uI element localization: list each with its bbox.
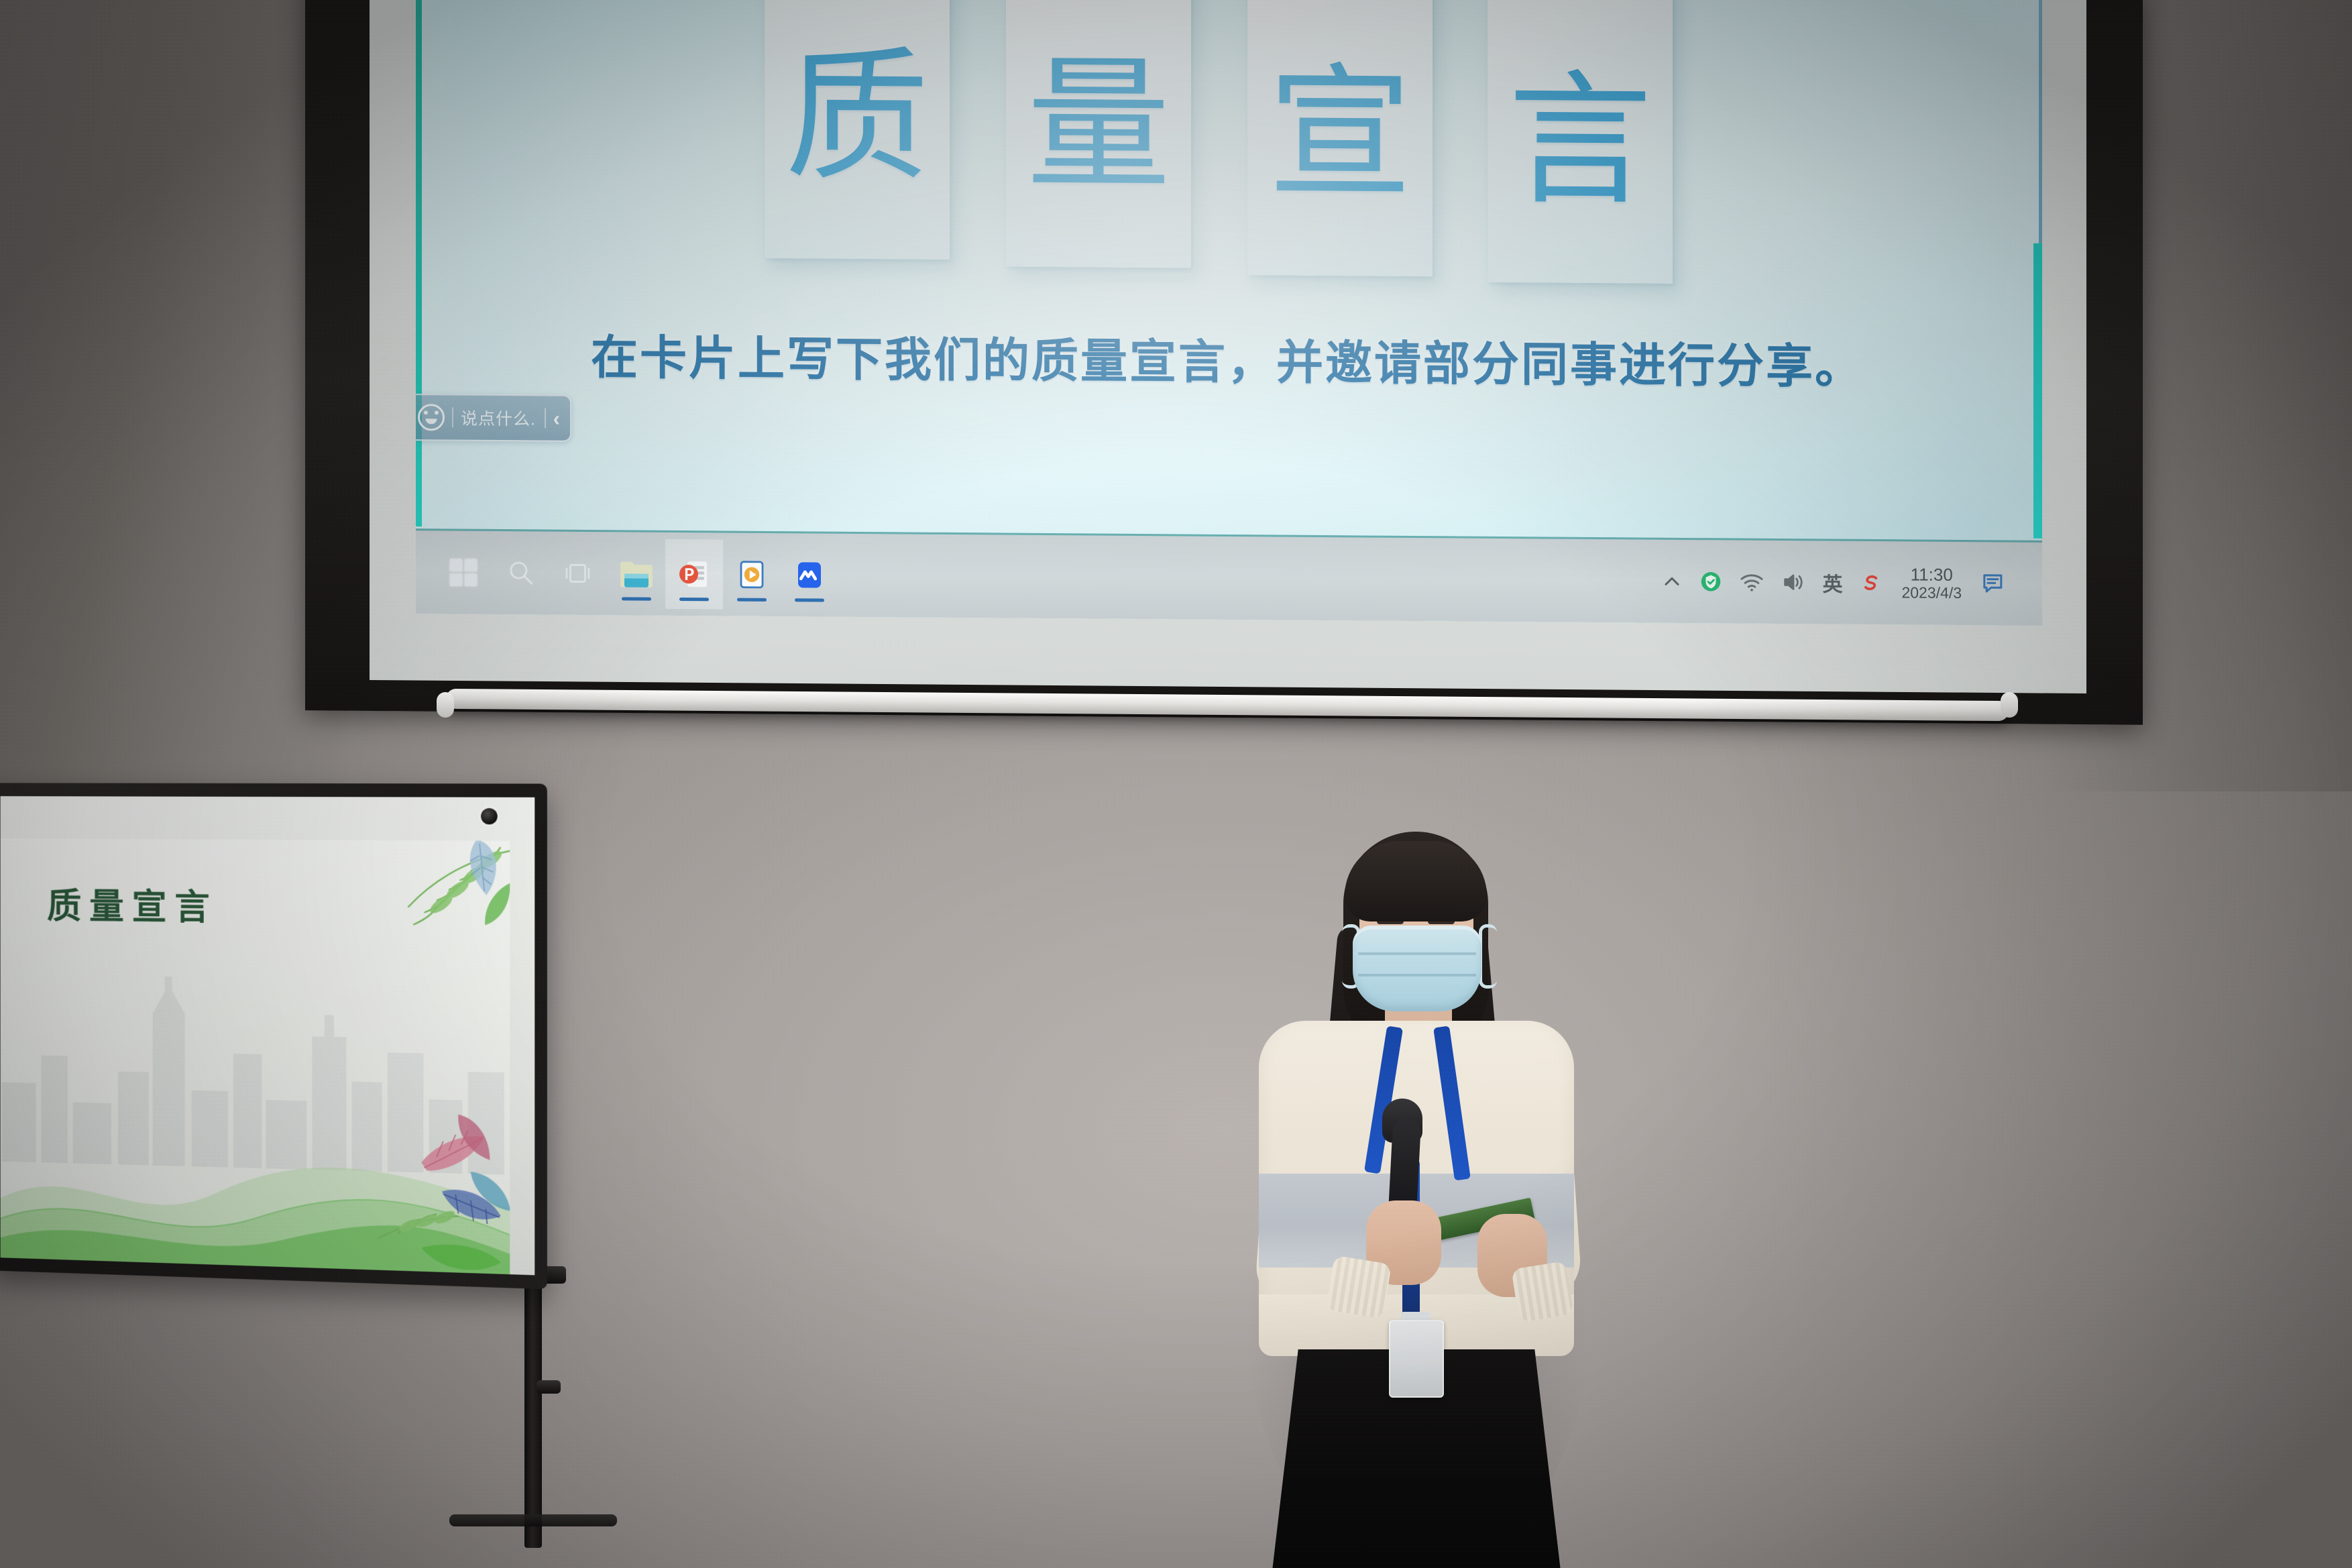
ime-indicator[interactable]: 英	[1814, 547, 1850, 617]
search-button[interactable]	[492, 538, 550, 608]
powerpoint-icon	[678, 558, 710, 590]
windows-logo-icon	[450, 559, 477, 585]
slide-accent-left	[416, 0, 422, 526]
meeting-app-button[interactable]	[781, 540, 838, 610]
presenter-id-badge	[1389, 1320, 1444, 1398]
clock-date: 2023/4/3	[1901, 584, 1962, 602]
sweater-cuff-left	[1326, 1255, 1392, 1319]
start-button[interactable]	[435, 537, 492, 608]
title-char: 宣	[1268, 60, 1412, 206]
folder-icon	[619, 558, 654, 589]
sweater-cuff-right	[1511, 1261, 1574, 1323]
media-player-icon	[736, 559, 768, 591]
quality-declaration-poster: 质量宣言	[1, 838, 510, 1275]
chevron-left-icon[interactable]: ‹	[553, 408, 560, 429]
title-char: 言	[1508, 68, 1653, 213]
title-char: 量	[1027, 52, 1171, 197]
security-shield[interactable]	[1691, 547, 1731, 616]
task-view-button[interactable]	[550, 539, 608, 609]
title-card: 宣	[1247, 0, 1433, 276]
chevron-up-icon	[1661, 571, 1683, 592]
whiteboard-frame: 质量宣言	[0, 783, 547, 1289]
taskbar-clock[interactable]: 11:30 2023/4/3	[1891, 548, 1972, 618]
search-icon	[506, 558, 536, 587]
sogou-input[interactable]	[1850, 548, 1891, 618]
show-hidden-icons[interactable]	[1653, 547, 1691, 616]
media-player-button[interactable]	[723, 539, 781, 610]
title-char: 质	[785, 44, 930, 189]
easel-knob-lower[interactable]	[537, 1380, 561, 1394]
comment-input-placeholder[interactable]: 说点什么...	[461, 406, 537, 431]
projector-screen: 质 量 宣 言 在卡片上写下我们的质量宣言，并邀请部分同事进行分享。	[305, 0, 2143, 765]
system-tray: 英 11:30 2023/4/3	[1653, 547, 2042, 619]
slide-accent-right	[2033, 243, 2042, 539]
divider	[452, 408, 453, 428]
title-card-group: 质 量 宣 言	[765, 0, 1683, 281]
slide-accent-right-thin	[2039, 0, 2042, 243]
file-explorer-button[interactable]	[608, 539, 665, 609]
conference-room-scene: 质 量 宣 言 在卡片上写下我们的质量宣言，并邀请部分同事进行分享。	[0, 0, 2352, 1568]
poster-title: 质量宣言	[47, 879, 217, 931]
presenter-hair-front	[1345, 841, 1487, 921]
sogou-icon	[1858, 571, 1883, 595]
roller-cap-left	[437, 692, 454, 718]
title-card: 量	[1006, 0, 1191, 268]
whiteboard-surface: 质量宣言	[1, 796, 535, 1275]
divider	[545, 408, 546, 429]
smiley-icon[interactable]	[418, 404, 445, 431]
notification-icon	[1980, 570, 2007, 597]
shield-icon	[1699, 569, 1723, 594]
comment-input-bar[interactable]: 说点什么... ‹	[416, 394, 571, 442]
slide-subtitle: 在卡片上写下我们的质量宣言，并邀请部分同事进行分享。	[510, 319, 1945, 398]
camera-lens-icon	[481, 808, 498, 824]
presenter-face-mask	[1353, 926, 1481, 1011]
network-status[interactable]	[1731, 547, 1773, 616]
windows-taskbar: 英 11:30 2023/4/3	[416, 528, 2042, 626]
leaf-decoration-bottom-icon	[356, 1099, 510, 1275]
clock-time: 11:30	[1911, 565, 1953, 585]
whiteboard-easel: 质量宣言	[0, 783, 570, 1313]
mask-earloop-right	[1479, 924, 1497, 989]
leaf-decoration-top-icon	[357, 838, 510, 979]
volume-control[interactable]	[1773, 547, 1814, 617]
title-card: 质	[765, 0, 950, 260]
wifi-icon	[1739, 571, 1765, 593]
notification-center[interactable]	[1972, 549, 2015, 618]
easel-base	[449, 1514, 617, 1526]
speaker-icon	[1781, 571, 1806, 594]
roller-cap-right	[2001, 692, 2018, 718]
projected-slide: 质 量 宣 言 在卡片上写下我们的质量宣言，并邀请部分同事进行分享。	[416, 0, 2042, 626]
task-view-icon	[564, 560, 594, 587]
meeting-app-icon	[793, 559, 826, 591]
title-card: 言	[1488, 0, 1673, 284]
wall-shadow-left	[0, 0, 349, 825]
taskbar-pinned-items	[416, 537, 838, 610]
presenter-person	[1244, 825, 1593, 1568]
powerpoint-button[interactable]	[665, 539, 723, 610]
